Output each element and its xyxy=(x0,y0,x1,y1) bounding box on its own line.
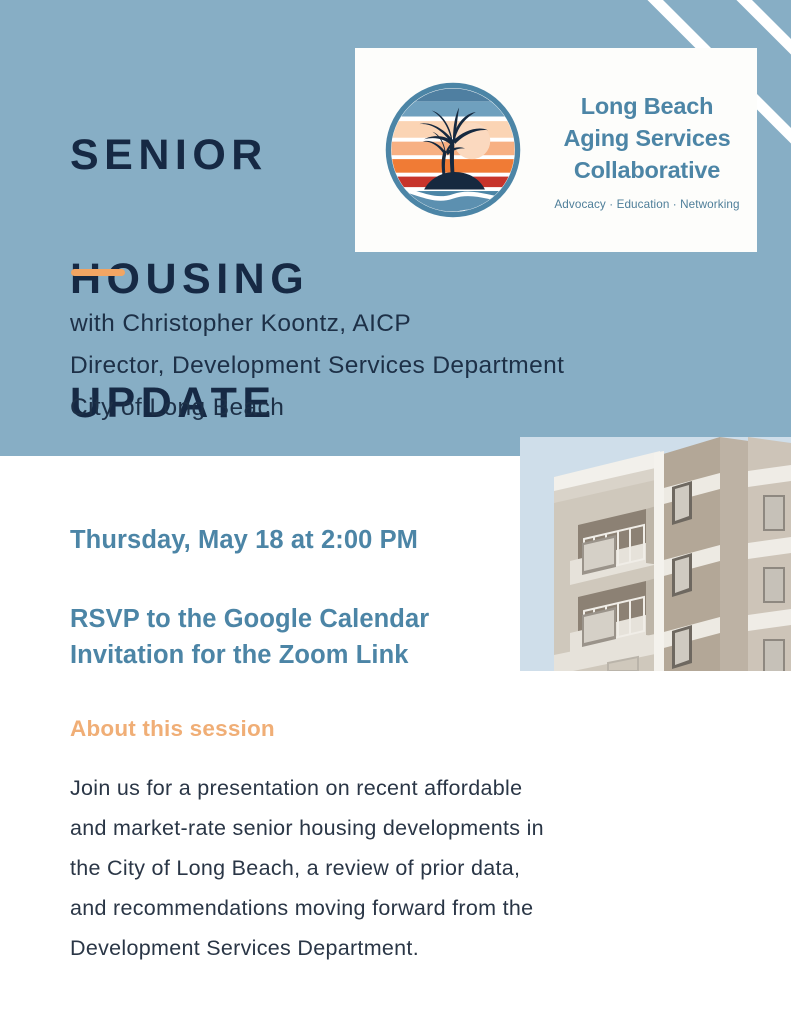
apartment-building-photo xyxy=(520,437,791,671)
speaker-info: with Christopher Koontz, AICP Director, … xyxy=(70,303,564,429)
organization-name-block: Long Beach Aging Services Collaborative … xyxy=(545,90,757,211)
flyer-page: SENIOR HOUSING UPDATE with Christopher K… xyxy=(0,0,791,1023)
palm-tree-island-logo-icon xyxy=(377,74,529,226)
about-line-3: the City of Long Beach, a review of prio… xyxy=(70,848,720,888)
about-section-body: Join us for a presentation on recent aff… xyxy=(70,768,720,968)
event-datetime: Thursday, May 18 at 2:00 PM xyxy=(70,526,418,555)
about-line-5: Development Services Department. xyxy=(70,928,720,968)
speaker-line-2: Director, Development Services Departmen… xyxy=(70,345,564,387)
org-name-line-1: Long Beach xyxy=(545,90,749,122)
rsvp-instructions: RSVP to the Google Calendar Invitation f… xyxy=(70,601,429,673)
building-illustration xyxy=(520,437,791,671)
speaker-line-3: City of Long Beach xyxy=(70,387,564,429)
orange-divider-bar xyxy=(71,269,125,276)
title-line-2: HOUSING xyxy=(70,248,309,310)
about-line-1: Join us for a presentation on recent aff… xyxy=(70,768,720,808)
about-section-heading: About this session xyxy=(70,716,275,742)
org-name-line-3: Collaborative xyxy=(545,154,749,186)
about-line-2: and market-rate senior housing developme… xyxy=(70,808,720,848)
organization-logo-card: Long Beach Aging Services Collaborative … xyxy=(355,48,757,252)
org-name-line-2: Aging Services xyxy=(545,122,749,154)
rsvp-line-1: RSVP to the Google Calendar xyxy=(70,601,429,637)
about-line-4: and recommendations moving forward from … xyxy=(70,888,720,928)
page-title: SENIOR HOUSING UPDATE xyxy=(70,62,309,496)
title-line-1: SENIOR xyxy=(70,124,309,186)
speaker-line-1: with Christopher Koontz, AICP xyxy=(70,303,564,345)
rsvp-line-2: Invitation for the Zoom Link xyxy=(70,637,429,673)
org-tagline: Advocacy · Education · Networking xyxy=(545,198,749,211)
